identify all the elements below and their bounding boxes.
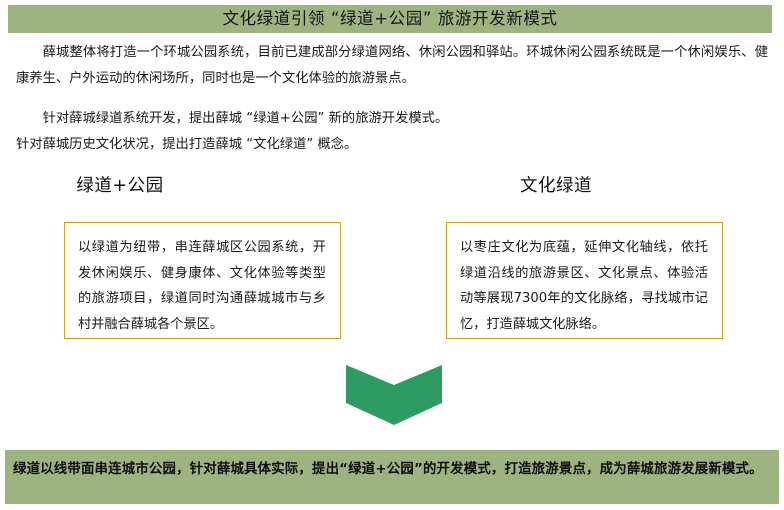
heading-culture-greenway: 文化绿道 xyxy=(520,176,592,196)
body-copy: 薛城整体将打造一个环城公园系统，目前已建成部分绿道网络、休闲公园和驿站。环城休闲… xyxy=(16,40,768,158)
page-title: 文化绿道引领 “绿道+公园” 旅游开发新模式 xyxy=(222,11,557,28)
concept-text-greenway-park: 以绿道为纽带，串连薛城区公园系统，开发休闲娱乐、健身康体、文化体验等类型的旅游项… xyxy=(78,235,326,337)
chevron-down-icon xyxy=(346,363,442,425)
paragraph-2: 针对薛城绿道系统开发，提出薛城 “绿道+公园” 新的旅游开发模式。 xyxy=(16,106,768,132)
heading-col-greenway-park: 绿道+公园 xyxy=(16,176,392,196)
heading-col-culture-greenway: 文化绿道 xyxy=(392,176,768,196)
concept-box-greenway-park: 以绿道为纽带，串连薛城区公园系统，开发休闲娱乐、健身康体、文化体验等类型的旅游项… xyxy=(64,222,341,339)
column-headings: 绿道+公园 文化绿道 xyxy=(16,176,768,196)
conclusion-banner: 绿道以线带面串连城市公园，针对薛城具体实际，提出“绿道+公园”的开发模式，打造旅… xyxy=(5,450,779,504)
conclusion-text: 绿道以线带面串连城市公园，针对薛城具体实际，提出“绿道+公园”的开发模式，打造旅… xyxy=(13,457,767,482)
title-banner: 文化绿道引领 “绿道+公园” 旅游开发新模式 xyxy=(8,5,772,33)
paragraph-3: 针对薛城历史文化状况，提出打造薛城 “文化绿道” 概念。 xyxy=(16,132,768,158)
paragraph-1: 薛城整体将打造一个环城公园系统，目前已建成部分绿道网络、休闲公园和驿站。环城休闲… xyxy=(16,40,768,92)
paragraph-group-2: 针对薛城绿道系统开发，提出薛城 “绿道+公园” 新的旅游开发模式。 针对薛城历史… xyxy=(16,106,768,158)
concept-text-culture-greenway: 以枣庄文化为底蕴，延伸文化轴线，依托绿道沿线的旅游景区、文化景点、体验活动等展现… xyxy=(460,235,708,337)
heading-greenway-park: 绿道+公园 xyxy=(76,176,163,196)
slide-canvas: 文化绿道引领 “绿道+公园” 旅游开发新模式 薛城整体将打造一个环城公园系统，目… xyxy=(0,0,784,510)
concept-box-culture-greenway: 以枣庄文化为底蕴，延伸文化轴线，依托绿道沿线的旅游景区、文化景点、体验活动等展现… xyxy=(446,222,723,339)
